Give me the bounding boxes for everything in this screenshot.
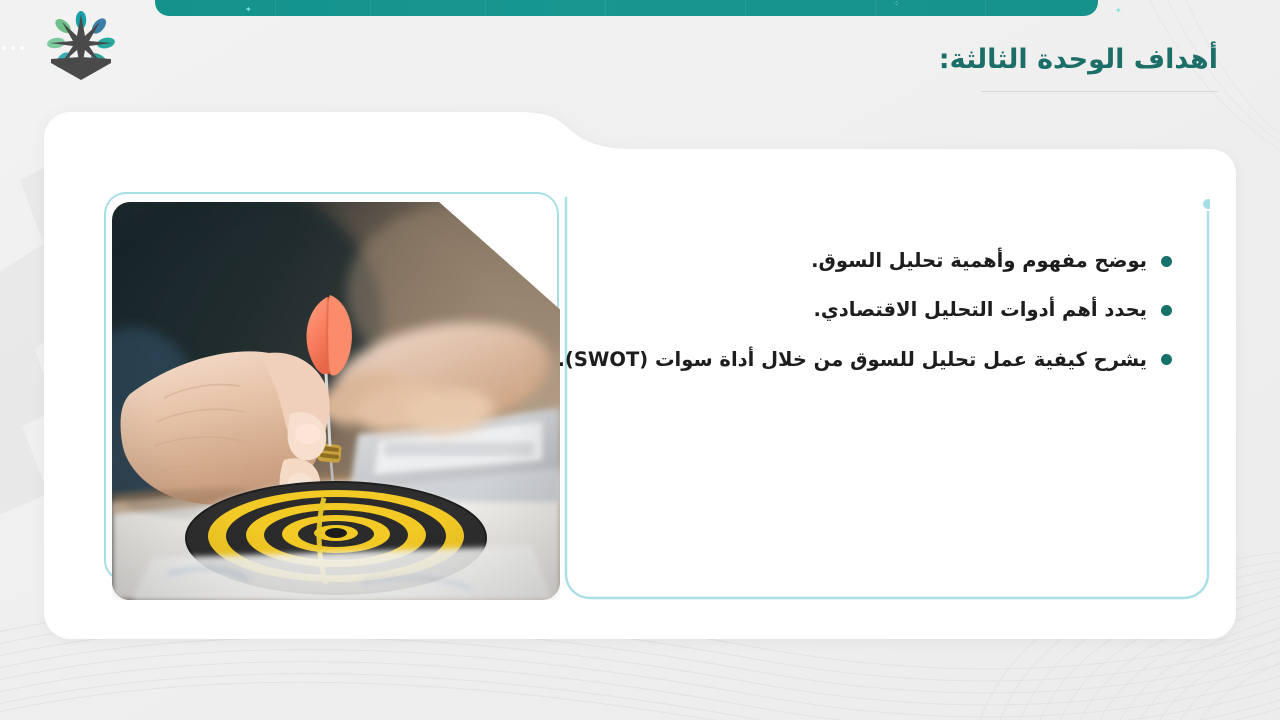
dartboard-photo-illustration xyxy=(112,202,560,600)
list-item: يوضح مفهوم وأهمية تحليل السوق. xyxy=(612,247,1172,275)
photo-block xyxy=(104,192,552,600)
bullet-dot-icon xyxy=(1161,256,1172,267)
list-item: يحدد أهم أدوات التحليل الاقتصادي. xyxy=(612,296,1172,324)
bullet-dot-icon xyxy=(1161,305,1172,316)
decorative-dots xyxy=(2,46,24,50)
title-underline xyxy=(981,91,1218,92)
page-title-block: أهداف الوحدة الثالثة: xyxy=(939,44,1218,92)
objectives-box: يوضح مفهوم وأهمية تحليل السوق. يحدد أهم … xyxy=(564,192,1210,600)
institution-logo xyxy=(44,10,118,84)
star-book-logo-icon xyxy=(44,10,118,84)
objective-text: يشرح كيفية عمل تحليل للسوق من خلال أداة … xyxy=(558,346,1148,374)
objective-text: يحدد أهم أدوات التحليل الاقتصادي. xyxy=(814,296,1148,324)
objective-text: يوضح مفهوم وأهمية تحليل السوق. xyxy=(811,247,1147,275)
dartboard-photo xyxy=(112,202,560,600)
top-accent-bar: ✦ ⁘ ✦ xyxy=(155,0,1098,16)
bullet-dot-icon xyxy=(1161,354,1172,365)
list-item: يشرح كيفية عمل تحليل للسوق من خلال أداة … xyxy=(612,346,1172,374)
slide-root: ✦ ⁘ ✦ أهداف الوحدة xyxy=(0,0,1280,720)
objectives-list: يوضح مفهوم وأهمية تحليل السوق. يحدد أهم … xyxy=(612,247,1172,374)
page-title: أهداف الوحدة الثالثة: xyxy=(939,44,1218,75)
